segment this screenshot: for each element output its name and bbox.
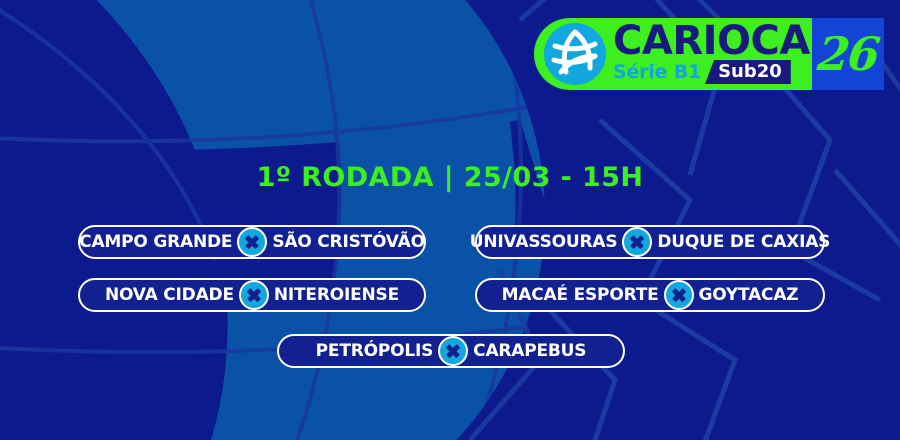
x-icon [664,280,694,310]
match-list: CAMPO GRANDE SÃO CRISTÓVÃO UNIVASSOURAS … [0,0,900,440]
x-icon [239,280,269,310]
home-team-label: CAMPO GRANDE [79,234,232,251]
match-row[interactable]: PETRÓPOLIS CARAPEBUS [277,334,625,368]
away-team-label: NITEROIENSE [274,287,399,304]
x-icon [438,336,468,366]
match-row[interactable]: UNIVASSOURAS DUQUE DE CAXIAS [475,225,825,259]
x-icon [237,227,267,257]
home-team-label: UNIVASSOURAS [470,234,618,251]
home-team-label: NOVA CIDADE [105,287,234,304]
away-team-label: GOYTACAZ [699,287,799,304]
away-team-label: CARAPEBUS [473,343,586,360]
home-team-label: PETRÓPOLIS [316,343,434,360]
match-row[interactable]: CAMPO GRANDE SÃO CRISTÓVÃO [78,225,426,259]
away-team-label: DUQUE DE CAXIAS [657,234,830,251]
match-row[interactable]: MACAÉ ESPORTE GOYTACAZ [475,278,825,312]
x-icon [622,227,652,257]
match-row[interactable]: NOVA CIDADE NITEROIENSE [78,278,426,312]
flyer-canvas: CARIOCA Série B1 Sub20 26 1º RODADA | 25… [0,0,900,440]
away-team-label: SÃO CRISTÓVÃO [272,234,425,251]
home-team-label: MACAÉ ESPORTE [502,287,659,304]
